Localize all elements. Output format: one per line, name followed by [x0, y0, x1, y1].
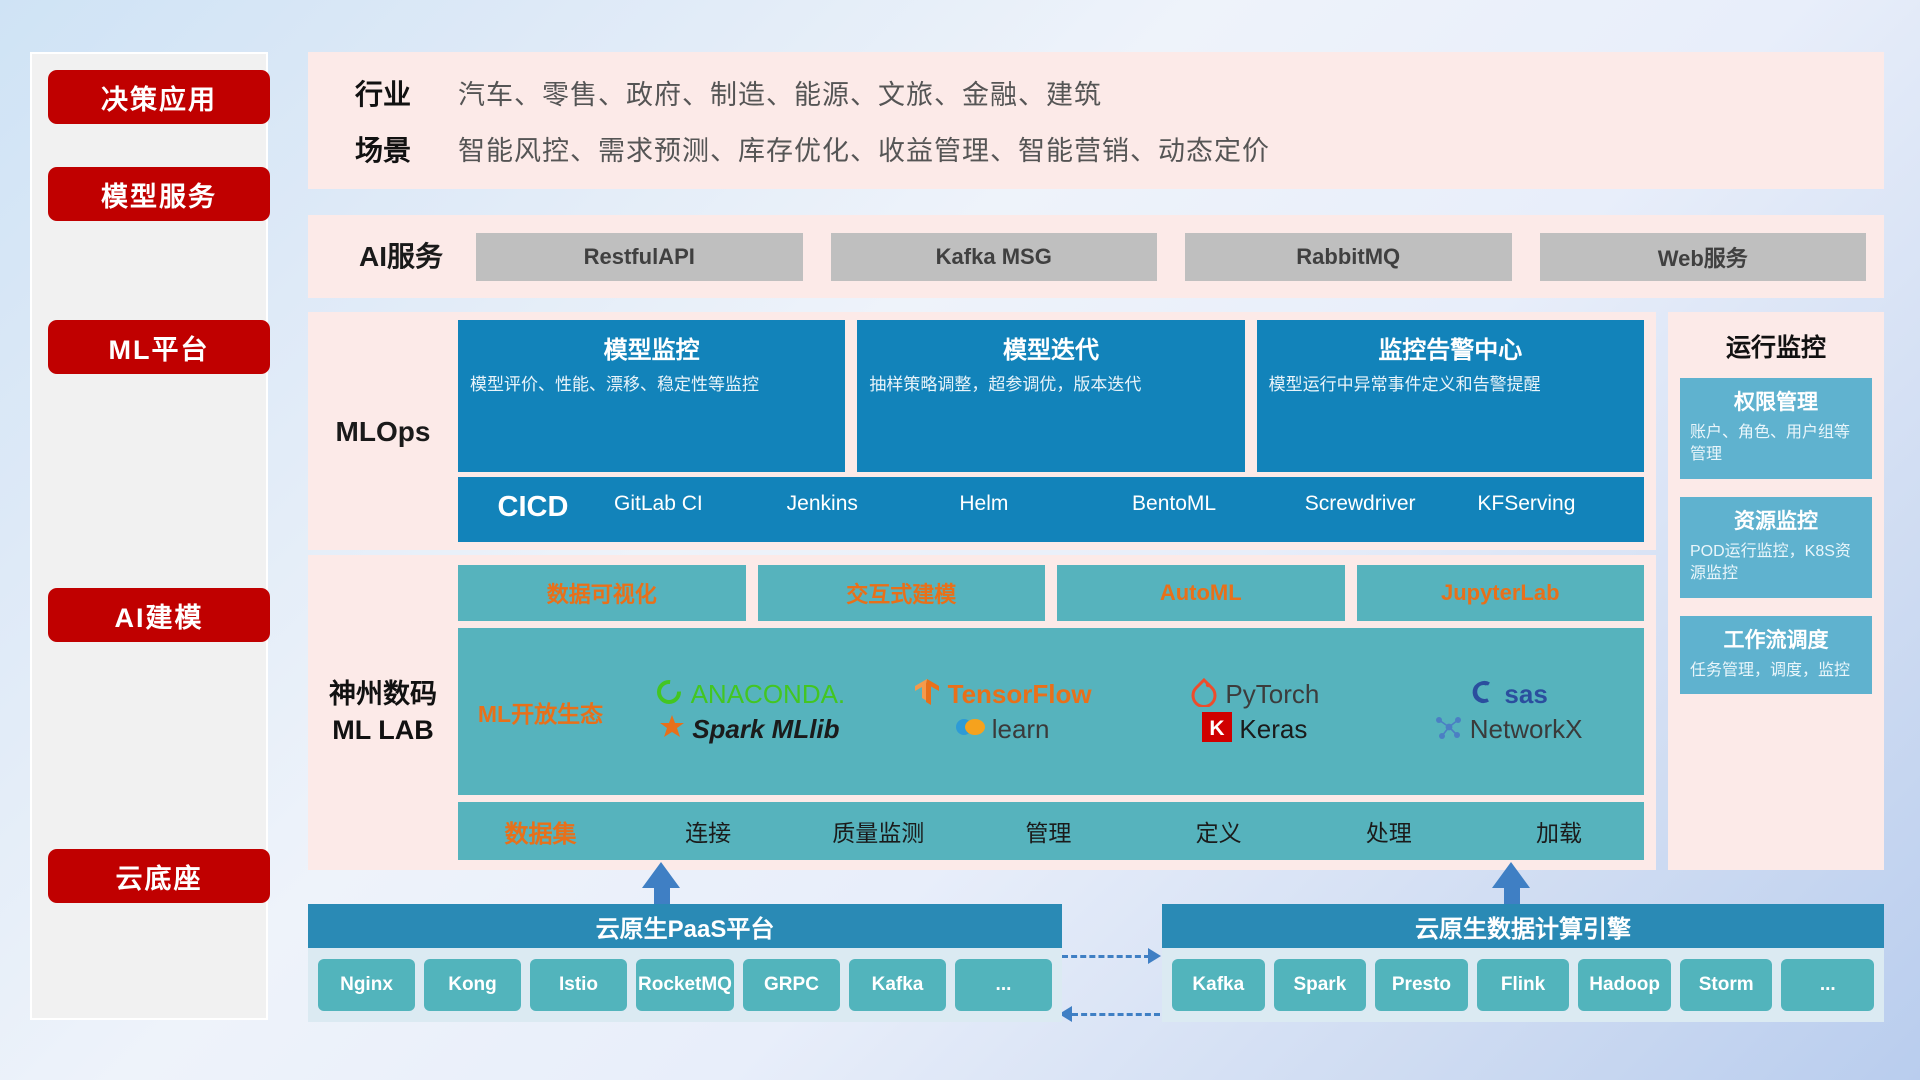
- ai-service-band: AI服务 RestfulAPI Kafka MSG RabbitMQ Web服务: [308, 215, 1884, 298]
- tensorflow-icon: [913, 677, 941, 712]
- industry-row: 行业 汽车、零售、政府、制造、能源、文旅、金融、建筑: [308, 65, 1884, 121]
- sas-icon: [1467, 677, 1497, 712]
- engine-chip-storm[interactable]: Storm: [1680, 959, 1773, 1011]
- cicd-item-kfserving[interactable]: KFServing: [1471, 491, 1644, 535]
- cicd-item-helm[interactable]: Helm: [953, 491, 1126, 535]
- logo-sas: sas: [1467, 677, 1547, 712]
- tab-data-visualization[interactable]: 数据可视化: [458, 565, 746, 621]
- industry-value: 汽车、零售、政府、制造、能源、文旅、金融、建筑: [458, 73, 1102, 112]
- rail-tag-cloud-base[interactable]: 云底座: [48, 849, 270, 903]
- tab-interactive-modeling[interactable]: 交互式建模: [758, 565, 1046, 621]
- paas-chip-rocketmq[interactable]: RocketMQ: [636, 959, 734, 1011]
- scenario-row: 场景 智能风控、需求预测、库存优化、收益管理、智能营销、动态定价: [308, 121, 1884, 177]
- engine-chip-hadoop[interactable]: Hadoop: [1578, 959, 1671, 1011]
- cicd-item-screwdriver[interactable]: Screwdriver: [1299, 491, 1472, 535]
- dash-line-right: [1062, 955, 1150, 958]
- card-desc: 模型运行中异常事件定义和告警提醒: [1269, 373, 1632, 398]
- ml-lab-tab-list: 数据可视化 交互式建模 AutoML JupyterLab: [458, 565, 1644, 621]
- card-desc: POD运行监控，K8S资源监控: [1690, 541, 1862, 586]
- arrow-up-engine-icon: [1492, 862, 1530, 888]
- paas-chip-more[interactable]: ...: [955, 959, 1052, 1011]
- logo-tensorflow: TensorFlow: [913, 677, 1092, 712]
- paas-chip-grpc[interactable]: GRPC: [743, 959, 840, 1011]
- ai-chip-kafka-msg[interactable]: Kafka MSG: [831, 233, 1158, 281]
- ai-chip-restfulapi[interactable]: RestfulAPI: [476, 233, 803, 281]
- card-title: 监控告警中心: [1269, 330, 1632, 365]
- ai-service-chip-list: RestfulAPI Kafka MSG RabbitMQ Web服务: [476, 233, 1866, 281]
- tab-jupyterlab[interactable]: JupyterLab: [1357, 565, 1645, 621]
- ml-ecosystem-label: ML开放生态: [458, 695, 623, 729]
- card-title: 工作流调度: [1690, 624, 1862, 654]
- dataset-item-connect[interactable]: 连接: [623, 814, 793, 848]
- cicd-item-jenkins[interactable]: Jenkins: [781, 491, 954, 535]
- mlops-label: MLOps: [308, 414, 458, 449]
- cicd-item-list: GitLab CI Jenkins Helm BentoML Screwdriv…: [608, 491, 1644, 535]
- monitor-card-resource[interactable]: 资源监控 POD运行监控，K8S资源监控: [1680, 497, 1872, 598]
- cloud-engine-chip-list: Kafka Spark Presto Flink Hadoop Storm ..…: [1162, 948, 1884, 1022]
- monitor-panel-title: 运行监控: [1680, 328, 1872, 364]
- engine-chip-spark[interactable]: Spark: [1274, 959, 1367, 1011]
- card-desc: 任务管理，调度，监控: [1690, 660, 1862, 682]
- runtime-monitor-panel: 运行监控 权限管理 账户、角色、用户组等管理 资源监控 POD运行监控，K8S资…: [1668, 312, 1884, 870]
- ml-ecosystem-row: ML开放生态 ANACONDA. TensorFlow: [458, 628, 1644, 795]
- logo-networkx: NetworkX: [1433, 713, 1583, 746]
- paas-chip-istio[interactable]: Istio: [530, 959, 627, 1011]
- rail-tag-model-service[interactable]: 模型服务: [48, 167, 270, 221]
- ai-chip-web-service[interactable]: Web服务: [1540, 233, 1867, 281]
- cicd-item-bentoml[interactable]: BentoML: [1126, 491, 1299, 535]
- cloud-paas-title: 云原生PaaS平台: [308, 904, 1062, 948]
- card-title: 资源监控: [1690, 505, 1862, 535]
- mlops-card-list: 模型监控 模型评价、性能、漂移、稳定性等监控 模型迭代 抽样策略调整，超参调优，…: [458, 320, 1644, 472]
- rail-tag-ai-modeling[interactable]: AI建模: [48, 588, 270, 642]
- cicd-bar: CICD GitLab CI Jenkins Helm BentoML Scre…: [458, 477, 1644, 542]
- paas-chip-nginx[interactable]: Nginx: [318, 959, 415, 1011]
- ml-lab-label: 神州数码 ML LAB: [308, 677, 458, 747]
- scenario-value: 智能风控、需求预测、库存优化、收益管理、智能营销、动态定价: [458, 129, 1270, 168]
- cicd-title: CICD: [458, 491, 608, 524]
- mlops-band: MLOps 模型监控 模型评价、性能、漂移、稳定性等监控 模型迭代 抽样策略调整…: [308, 312, 1656, 550]
- dataset-row: 数据集 连接 质量监测 管理 定义 处理 加载: [458, 802, 1644, 860]
- card-desc: 抽样策略调整，超参调优，版本迭代: [869, 373, 1232, 398]
- paas-chip-kong[interactable]: Kong: [424, 959, 521, 1011]
- rail-tag-decision-app[interactable]: 决策应用: [48, 70, 270, 124]
- keras-icon: K: [1202, 712, 1232, 747]
- tab-automl[interactable]: AutoML: [1057, 565, 1345, 621]
- dataset-item-list: 连接 质量监测 管理 定义 处理 加载: [623, 814, 1644, 848]
- ml-lab-label-line2: ML LAB: [308, 713, 458, 748]
- engine-chip-presto[interactable]: Presto: [1375, 959, 1468, 1011]
- ai-service-label: AI服务: [326, 239, 476, 274]
- cloud-paas-group: 云原生PaaS平台 Nginx Kong Istio RocketMQ GRPC…: [308, 904, 1062, 1022]
- logo-spark-mllib: Spark MLlib: [659, 714, 839, 745]
- mlops-card-alert-center[interactable]: 监控告警中心 模型运行中异常事件定义和告警提醒: [1257, 320, 1644, 472]
- cicd-item-gitlab-ci[interactable]: GitLab CI: [608, 491, 781, 535]
- logo-label: Spark MLlib: [692, 714, 839, 745]
- engine-chip-kafka[interactable]: Kafka: [1172, 959, 1265, 1011]
- scikit-learn-icon: [955, 714, 985, 745]
- mlops-body: 模型监控 模型评价、性能、漂移、稳定性等监控 模型迭代 抽样策略调整，超参调优，…: [458, 320, 1644, 542]
- logo-keras: K Keras: [1202, 712, 1307, 747]
- logo-label: Keras: [1239, 714, 1307, 745]
- spark-icon: [659, 714, 685, 745]
- ml-lab-body: 数据可视化 交互式建模 AutoML JupyterLab ML开放生态 ANA…: [458, 565, 1644, 860]
- dataset-item-process[interactable]: 处理: [1304, 814, 1474, 848]
- dataset-title: 数据集: [458, 814, 623, 849]
- logo-anaconda: ANACONDA.: [654, 677, 846, 712]
- cloud-engine-group: 云原生数据计算引擎 Kafka Spark Presto Flink Hadoo…: [1162, 904, 1884, 1022]
- monitor-card-permission[interactable]: 权限管理 账户、角色、用户组等管理: [1680, 378, 1872, 479]
- industry-label: 行业: [308, 73, 458, 113]
- dataset-item-define[interactable]: 定义: [1134, 814, 1304, 848]
- ml-lab-band: 神州数码 ML LAB 数据可视化 交互式建模 AutoML JupyterLa…: [308, 555, 1656, 870]
- card-desc: 模型评价、性能、漂移、稳定性等监控: [470, 373, 833, 398]
- cloud-engine-title: 云原生数据计算引擎: [1162, 904, 1884, 948]
- engine-chip-flink[interactable]: Flink: [1477, 959, 1570, 1011]
- mlops-card-model-iteration[interactable]: 模型迭代 抽样策略调整，超参调优，版本迭代: [857, 320, 1244, 472]
- dataset-item-manage[interactable]: 管理: [963, 814, 1133, 848]
- logo-label: TensorFlow: [948, 679, 1092, 710]
- networkx-icon: [1433, 713, 1463, 746]
- rail-tag-ml-platform[interactable]: ML平台: [48, 320, 270, 374]
- dataset-item-quality[interactable]: 质量监测: [793, 814, 963, 848]
- svg-text:K: K: [1210, 717, 1225, 740]
- dash-line-left: [1072, 1013, 1160, 1016]
- card-title: 权限管理: [1690, 386, 1862, 416]
- logo-pytorch: PyTorch: [1190, 677, 1319, 712]
- ml-ecosystem-logo-grid: ANACONDA. TensorFlow PyTorch: [623, 677, 1644, 747]
- card-title: 模型监控: [470, 330, 833, 365]
- card-title: 模型迭代: [869, 330, 1232, 365]
- arrow-up-paas-icon: [642, 862, 680, 888]
- dash-arrow-right-icon: [1148, 948, 1161, 964]
- card-desc: 账户、角色、用户组等管理: [1690, 422, 1862, 467]
- ai-chip-rabbitmq[interactable]: RabbitMQ: [1185, 233, 1512, 281]
- cloud-paas-chip-list: Nginx Kong Istio RocketMQ GRPC Kafka ...: [308, 948, 1062, 1022]
- logo-label: learn: [992, 714, 1050, 745]
- logo-scikit-learn: learn: [955, 714, 1050, 745]
- scenario-label: 场景: [308, 129, 458, 169]
- logo-label: sas: [1504, 679, 1547, 710]
- anaconda-icon: [654, 677, 684, 712]
- dataset-item-load[interactable]: 加载: [1474, 814, 1644, 848]
- industry-scenario-band: 行业 汽车、零售、政府、制造、能源、文旅、金融、建筑 场景 智能风控、需求预测、…: [308, 52, 1884, 189]
- monitor-card-workflow[interactable]: 工作流调度 任务管理，调度，监控: [1680, 616, 1872, 694]
- pytorch-icon: [1190, 677, 1218, 712]
- mlops-card-model-monitoring[interactable]: 模型监控 模型评价、性能、漂移、稳定性等监控: [458, 320, 845, 472]
- logo-label: PyTorch: [1225, 679, 1319, 710]
- paas-chip-kafka[interactable]: Kafka: [849, 959, 946, 1011]
- ml-lab-label-line1: 神州数码: [308, 677, 458, 712]
- engine-chip-more[interactable]: ...: [1781, 959, 1874, 1011]
- architecture-diagram: 决策应用 模型服务 ML平台 AI建模 云底座 行业 汽车、零售、政府、制造、能…: [0, 0, 1920, 1080]
- logo-label: NetworkX: [1470, 714, 1583, 745]
- logo-label: ANACONDA.: [691, 679, 846, 710]
